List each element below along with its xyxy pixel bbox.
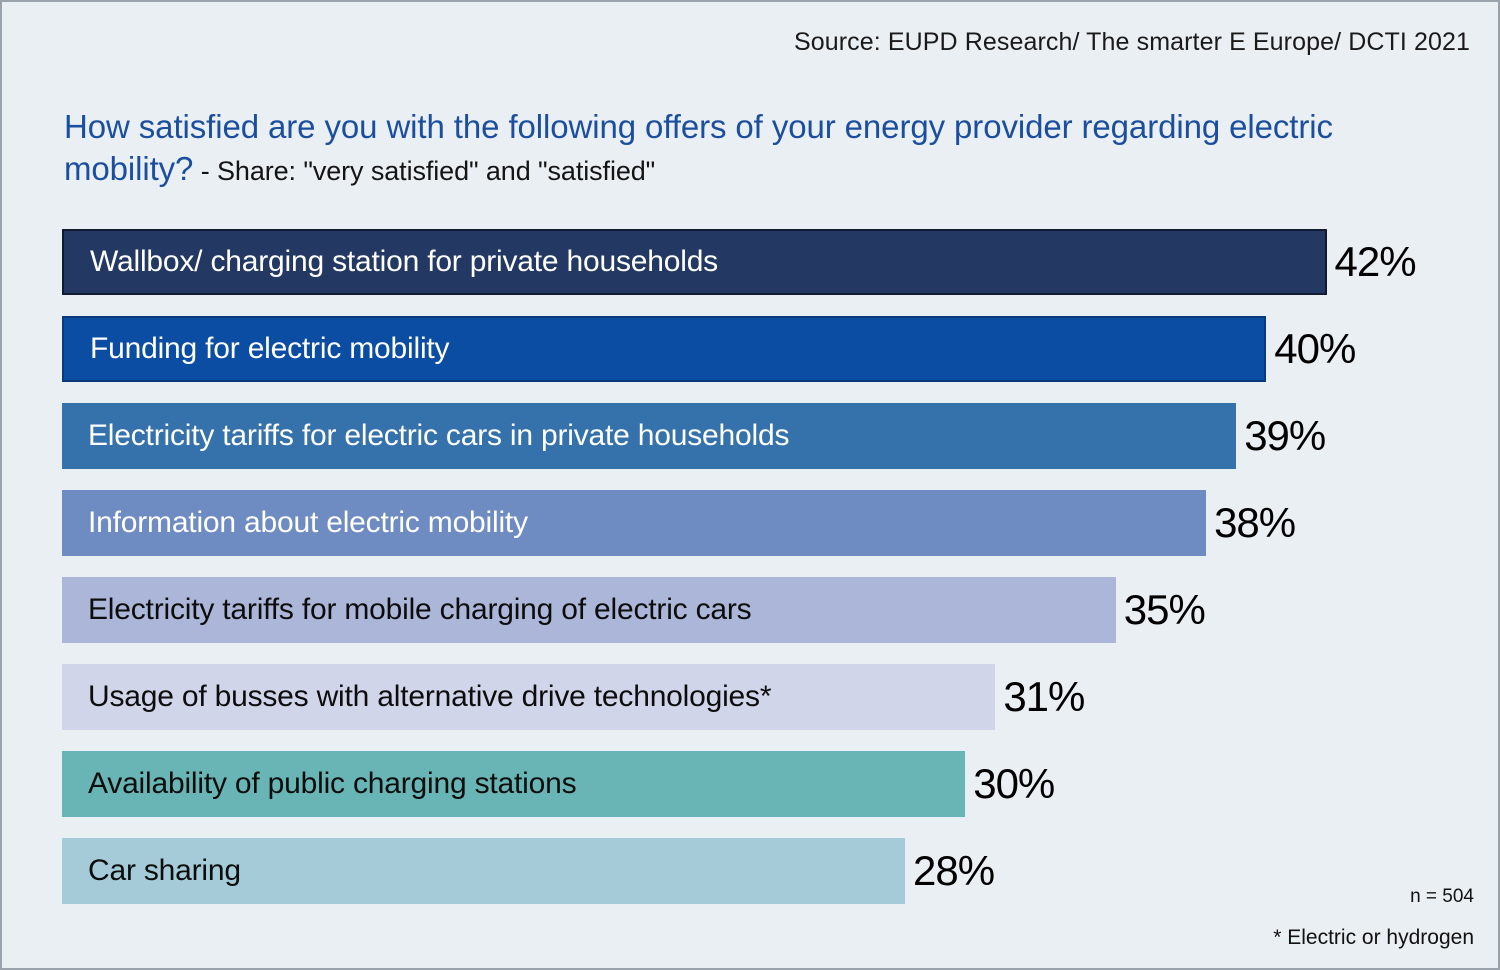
bar-value-label: 39% [1236, 415, 1325, 457]
bar-row: Usage of busses with alternative drive t… [62, 664, 1462, 730]
bar-8: Car sharing [62, 838, 905, 904]
bar-row: Availability of public charging stations… [62, 751, 1462, 817]
bar-label: Usage of busses with alternative drive t… [62, 682, 771, 712]
bar-value-label: 38% [1206, 502, 1295, 544]
bar-4: Information about electric mobility [62, 490, 1206, 556]
bar-row: Car sharing28% [62, 838, 1462, 904]
bar-label: Availability of public charging stations [62, 769, 576, 799]
bar-row: Funding for electric mobility40% [62, 316, 1462, 382]
page-subtitle: - Share: "very satisfied" and "satisfied… [193, 156, 655, 186]
bar-label: Wallbox/ charging station for private ho… [64, 247, 718, 277]
bar-row: Electricity tariffs for electric cars in… [62, 403, 1462, 469]
bar-label: Car sharing [62, 856, 241, 886]
bar-value-label: 31% [995, 676, 1084, 718]
bar-chart: Wallbox/ charging station for private ho… [62, 229, 1462, 925]
bar-1: Wallbox/ charging station for private ho… [62, 229, 1327, 295]
bar-2: Funding for electric mobility [62, 316, 1266, 382]
bar-label: Funding for electric mobility [64, 334, 449, 364]
asterisk-footnote: * Electric or hydrogen [1273, 926, 1474, 950]
chart-title-block: How satisfied are you with the following… [64, 106, 1438, 189]
bar-label: Electricity tariffs for electric cars in… [62, 421, 789, 451]
sample-size-note: n = 504 [1273, 886, 1474, 908]
bar-row: Wallbox/ charging station for private ho… [62, 229, 1462, 295]
bar-value-label: 35% [1116, 589, 1205, 631]
bar-label: Electricity tariffs for mobile charging … [62, 595, 751, 625]
source-citation: Source: EUPD Research/ The smarter E Eur… [794, 28, 1470, 57]
bar-value-label: 42% [1327, 241, 1416, 283]
bar-3: Electricity tariffs for electric cars in… [62, 403, 1236, 469]
bar-value-label: 40% [1266, 328, 1355, 370]
bar-6: Usage of busses with alternative drive t… [62, 664, 995, 730]
bar-7: Availability of public charging stations [62, 751, 965, 817]
bar-label: Information about electric mobility [62, 508, 528, 538]
bar-row: Information about electric mobility38% [62, 490, 1462, 556]
chart-slide: Source: EUPD Research/ The smarter E Eur… [0, 0, 1500, 970]
bar-value-label: 30% [965, 763, 1054, 805]
bar-5: Electricity tariffs for mobile charging … [62, 577, 1116, 643]
footnote-block: n = 504 * Electric or hydrogen [1273, 886, 1474, 950]
bar-value-label: 28% [905, 850, 994, 892]
bar-row: Electricity tariffs for mobile charging … [62, 577, 1462, 643]
